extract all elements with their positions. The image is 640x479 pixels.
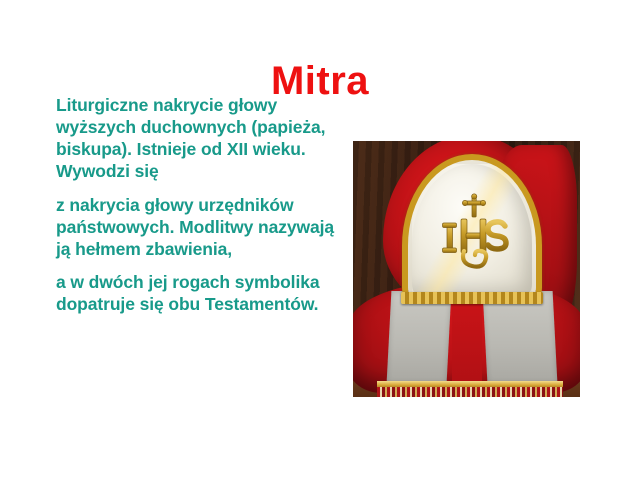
photo-scene <box>353 141 580 397</box>
mitre-center-band <box>452 291 482 387</box>
paragraph-3: a w dwóch jej rogach symbolika dopatruje… <box>56 271 342 315</box>
mitre-gold-base-band <box>401 292 543 304</box>
paragraph-1: Liturgiczne nakrycie głowy wyższych duch… <box>56 94 342 183</box>
body-text-block: Liturgiczne nakrycie głowy wyższych duch… <box>56 94 342 315</box>
presentation-slide: Mitra Liturgiczne nakrycie głowy wyższyc… <box>0 0 640 479</box>
mitre-photograph <box>353 141 580 397</box>
ihs-monogram-icon <box>437 193 511 273</box>
paragraph-2: z nakrycia głowy urzędników państwowych.… <box>56 194 342 260</box>
mitre-lappet-right <box>483 291 558 383</box>
tassel-fringe <box>377 387 563 397</box>
mitre <box>407 159 537 297</box>
mitre-lappet-left <box>387 291 452 383</box>
